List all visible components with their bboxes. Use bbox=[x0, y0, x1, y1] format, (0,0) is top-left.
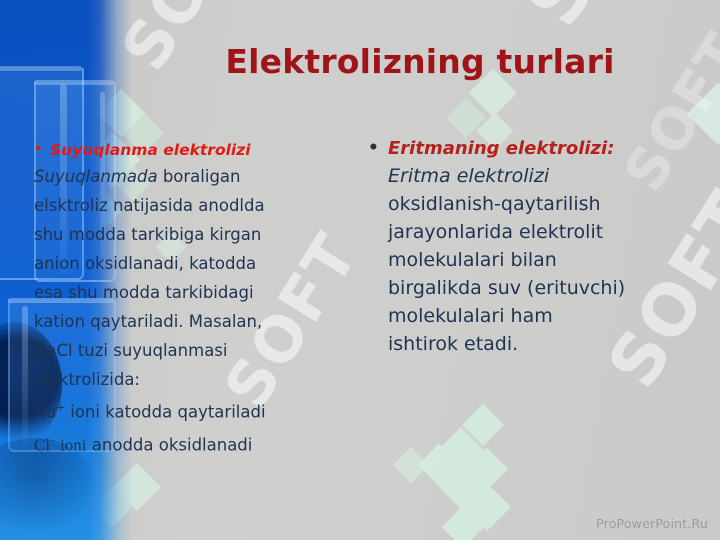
body-line: NaCl tuzi suyuqlanmasi bbox=[34, 336, 334, 365]
ion-symbol: Cl bbox=[34, 435, 50, 454]
body-line: Suyuqlanmada boraligan bbox=[34, 162, 334, 191]
body-line: anion oksidlanadi, katodda bbox=[34, 249, 334, 278]
ion-symbol: Na bbox=[34, 403, 56, 422]
body-line: esa shu modda tarkibidagi bbox=[34, 278, 334, 307]
ion-line-text: anodda oksidlanadi bbox=[87, 435, 253, 454]
ion-line-word: ioni bbox=[56, 435, 87, 454]
left-column-heading: • Suyuqlanma elektrolizi bbox=[34, 140, 334, 160]
body-line: birgalikda suv (erituvchi) bbox=[388, 274, 698, 302]
slide: SOFT SOFT SOFT SOFT SOFT Elektrolizning … bbox=[0, 0, 720, 540]
ion-charge: + bbox=[56, 403, 65, 414]
bullet-icon: • bbox=[368, 136, 379, 160]
right-column-heading: • Eritmaning elektrolizi: bbox=[368, 136, 698, 162]
ion-line-text: ioni katodda qaytariladi bbox=[65, 403, 266, 422]
body-line: shu modda tarkibiga kirgan bbox=[34, 220, 334, 249]
left-heading-text: Suyuqlanma elektrolizi bbox=[50, 141, 251, 159]
body-line: elsktroliz natijasida anodlda bbox=[34, 191, 334, 220]
body-line: molekulalari ham bbox=[388, 302, 698, 330]
body-line: ishtirok etadi. bbox=[388, 330, 698, 358]
right-text-column: • Eritmaning elektrolizi: Eritma elektro… bbox=[368, 136, 698, 358]
page-title: Elektrolizning turlari bbox=[140, 42, 700, 81]
left-column-body: Suyuqlanmada boraligan elsktroliz natija… bbox=[34, 162, 334, 459]
body-line: jarayonlarida elektrolit bbox=[388, 218, 698, 246]
body-line-italic: Eritma elektrolizi bbox=[388, 162, 698, 190]
body-line: molekulalari bilan bbox=[388, 246, 698, 274]
body-line-italic-lead: Suyuqlanmada bbox=[34, 167, 158, 186]
bullet-icon: • bbox=[34, 140, 42, 160]
site-credit: ProPowerPoint.Ru bbox=[596, 516, 708, 531]
body-line-rest: boraligan bbox=[163, 167, 241, 186]
brand-logo-mark bbox=[430, 408, 570, 540]
body-line: elektrolizida: bbox=[34, 365, 334, 394]
ion-line-chloride: Cl− ioni anodda oksidlanadi bbox=[34, 427, 334, 460]
body-line: kation qaytariladi. Masalan, bbox=[34, 307, 334, 336]
right-column-body: Eritma elektrolizi oksidlanish-qaytarili… bbox=[368, 162, 698, 358]
right-heading-text: Eritmaning elektrolizi: bbox=[388, 138, 614, 159]
left-text-column: • Suyuqlanma elektrolizi Suyuqlanmada bo… bbox=[34, 140, 334, 459]
body-line: oksidlanish-qaytarilish bbox=[388, 190, 698, 218]
ion-line-sodium: Na+ ioni katodda qaytariladi bbox=[34, 394, 334, 427]
